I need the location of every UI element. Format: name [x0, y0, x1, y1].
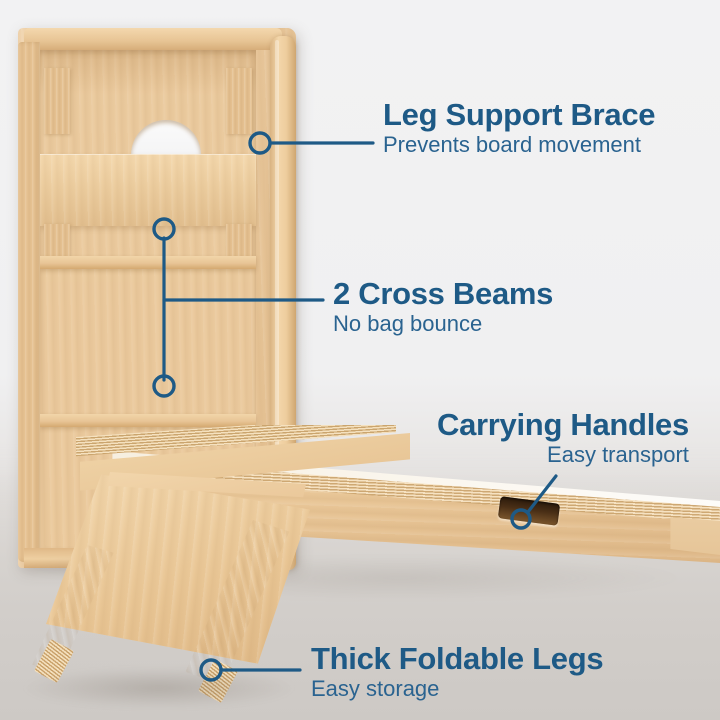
callout-title-handles: Carrying Handles [437, 409, 689, 441]
callout-subtitle-beams: No bag bounce [333, 312, 553, 336]
callout-title-beams: 2 Cross Beams [333, 278, 553, 310]
product-feature-infographic: Leg Support Brace Prevents board movemen… [0, 0, 720, 720]
callout-carrying-handles[interactable]: Carrying Handles Easy transport [437, 409, 689, 467]
callout-foldable-legs[interactable]: Thick Foldable Legs Easy storage [311, 643, 603, 701]
callout-title-legs: Thick Foldable Legs [311, 643, 603, 675]
callout-subtitle-legs: Easy storage [311, 677, 603, 701]
callout-leg-support-brace[interactable]: Leg Support Brace Prevents board movemen… [383, 99, 655, 157]
callout-subtitle-brace: Prevents board movement [383, 133, 655, 157]
callout-title-brace: Leg Support Brace [383, 99, 655, 131]
callout-cross-beams[interactable]: 2 Cross Beams No bag bounce [333, 278, 553, 336]
callout-subtitle-handles: Easy transport [437, 443, 689, 467]
legs-contact-shadow [24, 668, 294, 708]
